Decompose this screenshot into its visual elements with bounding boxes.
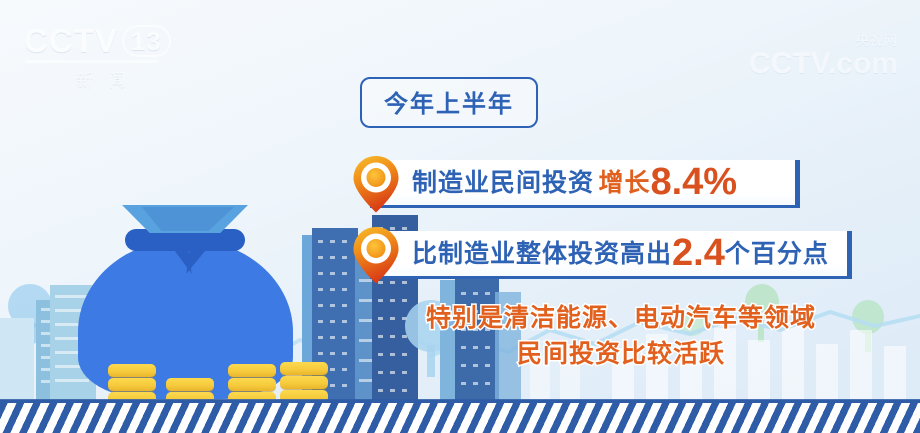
coin	[108, 378, 156, 391]
tree-trunk	[26, 322, 33, 348]
tree-trunk	[865, 330, 871, 352]
coin-stack	[228, 364, 276, 404]
stat-verb: 增长	[598, 169, 650, 197]
coin-stack	[108, 364, 156, 404]
watermark-com-text: .com	[828, 47, 898, 80]
coin	[280, 376, 328, 389]
coin	[280, 362, 328, 375]
building-windows	[36, 300, 76, 404]
stat-label: 比制造业整体投资高出	[412, 240, 672, 268]
watermark-wordmark: CCTV.com	[749, 49, 898, 79]
bg-bar	[884, 346, 906, 400]
cctv-wordmark: CCTV	[24, 22, 118, 59]
bottom-striped-band	[0, 400, 920, 433]
stat-value: 2.4	[672, 232, 725, 274]
broadcast-infographic-frame: CCTV13 新闻 央视网 CCTV.com 今年上半年	[0, 0, 920, 433]
channel-number: 13	[122, 25, 171, 57]
map-pin-icon	[352, 154, 400, 214]
cctv13-logo-text: CCTV13	[24, 24, 194, 58]
stat-value: 8.4%	[650, 161, 737, 203]
coin	[166, 378, 214, 391]
headline-block: 特别是清洁能源、电动汽车等领域 民间投资比较活跃	[386, 300, 856, 372]
watermark-cctv-text: CCTV	[749, 47, 828, 80]
stat-unit: 个百分点	[725, 240, 829, 268]
tree-icon	[852, 300, 884, 334]
tree-icon	[14, 320, 40, 346]
headline-line-1: 特别是清洁能源、电动汽车等领域	[386, 300, 856, 336]
building	[36, 300, 76, 404]
stat-row-vs-overall-investment: 比制造业整体投资高出2.4个百分点	[352, 231, 852, 279]
stat-row-text: 比制造业整体投资高出2.4个百分点	[412, 229, 829, 282]
logo-underline	[26, 60, 158, 63]
map-pin-icon	[352, 225, 400, 285]
stat-row-manufacturing-private-investment: 制造业民间投资 增长8.4%	[352, 160, 800, 208]
cctv13-logo-subtitle: 新闻	[24, 66, 194, 91]
building	[0, 318, 34, 404]
tree-icon	[8, 284, 52, 328]
headline-line-2: 民间投资比较活跃	[386, 336, 856, 372]
coin-stack	[280, 362, 328, 404]
coin	[228, 364, 276, 377]
cctv13-channel-logo: CCTV13 新闻	[24, 24, 194, 82]
cctv-com-watermark: 央视网 CCTV.com	[749, 32, 898, 79]
coin	[228, 378, 276, 391]
page-title: 今年上半年	[360, 77, 538, 128]
coin	[108, 364, 156, 377]
stat-row-text: 制造业民间投资 增长8.4%	[412, 158, 737, 211]
stat-label: 制造业民间投资	[412, 169, 594, 197]
